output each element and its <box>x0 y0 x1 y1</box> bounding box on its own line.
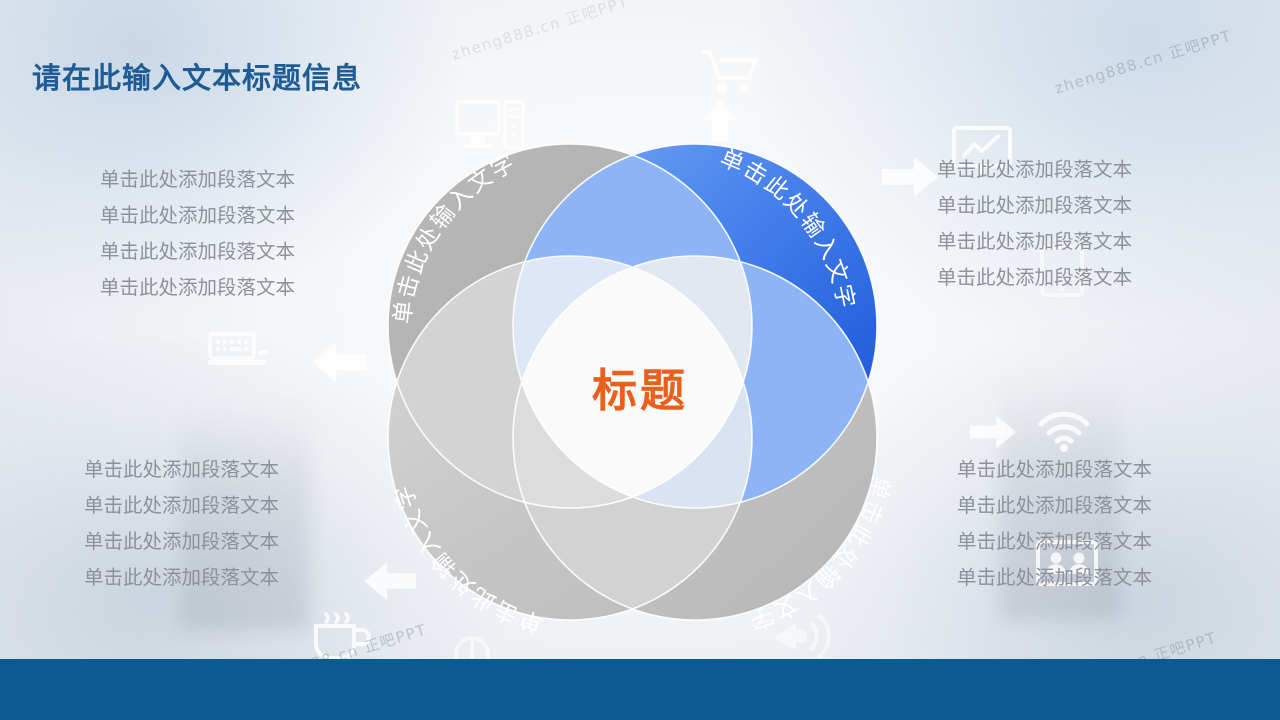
paragraph-line: 单击此处添加段落文本 <box>84 488 279 524</box>
venn-diagram: 单击此处输入文字 单击此处输入文字 单击此处输入文字 单击此处输入文字 <box>358 108 908 653</box>
paragraph-line: 单击此处添加段落文本 <box>937 260 1132 296</box>
watermark-top-right: zheng888.cn 正吧PPT <box>1052 25 1234 99</box>
paragraph-line: 单击此处添加段落文本 <box>100 270 295 306</box>
paragraph-line: 单击此处添加段落文本 <box>957 488 1152 524</box>
paragraph-line: 单击此处添加段落文本 <box>84 452 279 488</box>
paragraph-line: 单击此处添加段落文本 <box>957 452 1152 488</box>
right-arrow-icon <box>968 414 1018 450</box>
watermark-top-center: zheng888.cn 正吧PPT <box>449 0 631 65</box>
text-block-left-bottom: 单击此处添加段落文本 单击此处添加段落文本 单击此处添加段落文本 单击此处添加段… <box>84 452 279 596</box>
paragraph-line: 单击此处添加段落文本 <box>100 198 295 234</box>
slide-canvas: 请在此输入文本标题信息 <box>0 0 1280 720</box>
paragraph-line: 单击此处添加段落文本 <box>937 188 1132 224</box>
wifi-icon <box>1035 408 1093 454</box>
paragraph-line: 单击此处添加段落文本 <box>937 152 1132 188</box>
text-block-left-top: 单击此处添加段落文本 单击此处添加段落文本 单击此处添加段落文本 单击此处添加段… <box>100 162 295 306</box>
paragraph-line: 单击此处添加段落文本 <box>957 524 1152 560</box>
paragraph-line: 单击此处添加段落文本 <box>84 524 279 560</box>
slide-title: 请在此输入文本标题信息 <box>32 55 362 97</box>
paragraph-line: 单击此处添加段落文本 <box>84 560 279 596</box>
shopping-cart-icon <box>700 48 762 96</box>
paragraph-line: 单击此处添加段落文本 <box>100 234 295 270</box>
text-block-right-top: 单击此处添加段落文本 单击此处添加段落文本 单击此处添加段落文本 单击此处添加段… <box>937 152 1132 296</box>
text-block-right-bottom: 单击此处添加段落文本 单击此处添加段落文本 单击此处添加段落文本 单击此处添加段… <box>957 452 1152 596</box>
paragraph-line: 单击此处添加段落文本 <box>937 224 1132 260</box>
paragraph-line: 单击此处添加段落文本 <box>100 162 295 198</box>
keyboard-icon <box>208 332 270 368</box>
footer-bar <box>0 659 1280 720</box>
paragraph-line: 单击此处添加段落文本 <box>957 560 1152 596</box>
